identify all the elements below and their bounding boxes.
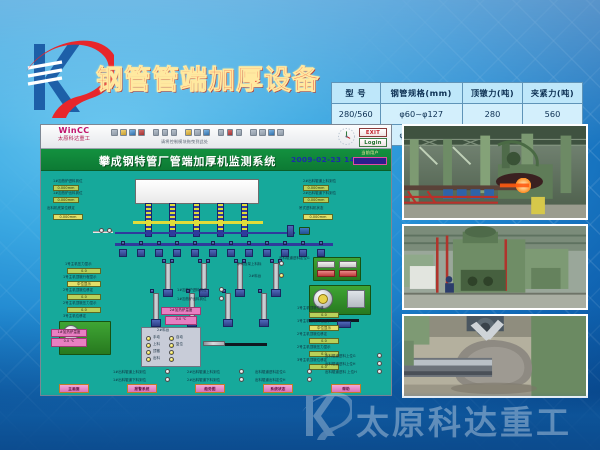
undo-icon[interactable] [185, 129, 192, 136]
conveyor-rail [115, 232, 295, 234]
stand-leg [209, 249, 217, 257]
stand-leg [227, 249, 235, 257]
cylinder-valve [206, 259, 210, 263]
rack2-lamp [279, 273, 284, 278]
lamp-label: 出料辊道出料定位H [255, 379, 286, 382]
toolbar-separator [245, 129, 248, 136]
run-icon[interactable] [259, 129, 266, 136]
table-row: 280/560 φ60~φ127 280 560 [332, 104, 583, 125]
status-lamp [239, 377, 244, 382]
readout-label: 1号主机顶镦行程显示 [297, 320, 331, 323]
status-lamp [219, 296, 224, 301]
panel-lamp[interactable] [169, 336, 174, 341]
wincc-toolbar-icons[interactable] [111, 128, 306, 137]
readout-label: 3号主机位移定 [63, 315, 86, 318]
stand-leg [317, 249, 325, 257]
rack2-label: 2#料台 [249, 275, 261, 278]
roller-icon [211, 241, 215, 245]
furnace2-temp-value: 0.0 ℃ [165, 316, 197, 325]
spec-table-header-row: 型 号 钢管规格(mm) 顶镦力(吨) 夹紧力(吨) [332, 83, 583, 104]
clamp-jaw [317, 261, 335, 268]
stand-leg [155, 249, 163, 257]
panel-lamp[interactable] [146, 336, 151, 341]
current-user-label: 当前用户 [353, 150, 387, 156]
zoom-icon[interactable] [203, 129, 210, 136]
alarm-icon[interactable] [227, 129, 234, 136]
cylinder-valve [170, 259, 174, 263]
lamp-label: 出料辊道进料定位G [255, 371, 286, 374]
readout-value: 中位显示 [309, 325, 339, 331]
lamp-label: 出料辊道进料上位G [325, 355, 356, 358]
roller-icon [157, 241, 161, 245]
furnace-temp-value: 0.0 ℃ [51, 338, 87, 347]
roller-icon [175, 241, 179, 245]
status-value: 0.000mm [303, 197, 329, 203]
readout-label: 2号主机顶镦压力显示 [63, 302, 97, 305]
spec-col-clamp: 夹紧力(吨) [522, 83, 582, 104]
lamp-label: 2#出料辊道上料到位 [187, 371, 220, 374]
lamp-label: 出料辊道进料定位G [279, 257, 310, 260]
readout-value: 中位显示 [67, 281, 101, 287]
open-folder-icon[interactable] [120, 129, 127, 136]
furnace-temp-label: 1#加热炉温度 [51, 329, 87, 337]
slide-header: 钢管管端加厚设备 型 号 钢管规格(mm) 顶镦力(吨) 夹紧力(吨) 280/… [0, 34, 600, 126]
cylinder-valve [270, 259, 274, 263]
status-lamp [377, 353, 382, 358]
cut-icon[interactable] [153, 129, 160, 136]
conveyor-roller-icon [107, 228, 112, 233]
cylinder-valve [198, 259, 202, 263]
spec-col-upset: 顶镦力(吨) [462, 83, 522, 104]
stand-leg [173, 249, 181, 257]
status-lamp [239, 369, 244, 374]
trend-icon[interactable] [236, 129, 243, 136]
stand-leg [137, 249, 145, 257]
lamp-label: 出料辊道进料 上位H [325, 371, 357, 374]
readout-value: 0.0 [309, 312, 339, 318]
hmi-screenshot-panel: WinCC 太原科达重工 请将控制模块拖曳到此处 [40, 124, 392, 396]
readout-label: 1号主机顶镦位移 [297, 307, 324, 310]
panel-lamp[interactable] [146, 357, 151, 362]
cylinder-base [163, 289, 173, 297]
flywheel-hub-icon [318, 294, 328, 304]
status-lamp [377, 361, 382, 366]
valve-block [337, 321, 351, 328]
roller-icon [265, 241, 269, 245]
wincc-logo: WinCC 太原科达重工 [46, 127, 102, 146]
toolbar-separator [180, 129, 183, 136]
photo-factory-machinery-overview [402, 224, 588, 310]
status-lamp [377, 369, 382, 374]
lamp-label: 出料辊道进料上位H [325, 363, 356, 366]
panel-lamp[interactable] [169, 343, 174, 348]
lamp-label: 1#加热炉出料到位 [177, 298, 207, 301]
photo-upset-pipe-end-closeup [402, 314, 588, 398]
readout-label: 1号主机顶镦行程显示 [63, 276, 97, 279]
grid-icon[interactable] [218, 129, 225, 136]
status-value: 0.000mm [53, 197, 79, 203]
page-title: 钢管管端加厚设备 [96, 58, 320, 97]
stand-leg [245, 249, 253, 257]
cylinder-base [223, 319, 233, 327]
roller-icon [121, 241, 125, 245]
stop-icon[interactable] [268, 129, 275, 136]
cylinder-valve [162, 259, 166, 263]
cylinder-base [235, 289, 245, 297]
status-lamp [307, 369, 312, 374]
status-label: 1#加热炉进料到位 [53, 180, 83, 183]
panel-lamp[interactable] [169, 357, 174, 362]
conveyor-stop-block [287, 225, 294, 237]
readout-label: 2号主机顶镦位移定 [63, 289, 93, 292]
furnace-body [135, 179, 259, 204]
furnace2-temp-label: 2#加热炉温度 [161, 307, 201, 315]
readout-label: 2号主机顶镦位移定 [297, 333, 327, 336]
press-head [347, 290, 365, 308]
status-label: 吊式进料机状态 [299, 207, 323, 210]
panel-row-label: 上料 [153, 343, 160, 346]
current-user-value [353, 157, 387, 165]
lamp-label: 2#出料辊道下料到位 [187, 379, 220, 382]
cylinder-valve [150, 289, 154, 293]
control-panel-title: 2#料台 [157, 329, 169, 332]
toolbar-hint: 请将控制模块拖曳到此处 [161, 139, 208, 145]
status-label: 2#出料辊道上料到位 [303, 180, 336, 183]
spec-cell: φ60~φ127 [380, 104, 462, 125]
help-icon[interactable] [277, 129, 284, 136]
toolbar-separator [147, 129, 150, 136]
panel-lamp[interactable] [146, 343, 151, 348]
panel-link-line [225, 343, 267, 346]
readout-label: 1号主机压力显示 [65, 263, 92, 266]
roller-icon [229, 241, 233, 245]
readout-value: 0.0 [67, 294, 101, 300]
mid-rack-lamp [279, 261, 284, 266]
redo-icon[interactable] [194, 129, 201, 136]
status-label: 2#出料辊道下料到位 [303, 192, 336, 195]
save-icon[interactable] [129, 129, 136, 136]
panel-linked-cylinder [203, 341, 225, 346]
spec-col-model: 型 号 [332, 83, 381, 104]
furnace-rail [133, 221, 263, 224]
cylinder-base [259, 319, 269, 327]
status-lamp [307, 377, 312, 382]
panel-lamp[interactable] [146, 350, 151, 355]
exit-button[interactable]: EXIT [359, 128, 387, 137]
spec-col-size: 钢管规格(mm) [380, 83, 462, 104]
toolbar-separator [212, 129, 215, 136]
panel-row-label: 复位 [176, 343, 183, 346]
properties-icon[interactable] [250, 129, 257, 136]
panel-row-label: 出料 [153, 357, 160, 360]
status-value: 0.000mm [303, 214, 333, 220]
readout-value: 0.0 [309, 338, 339, 344]
roller-icon [193, 241, 197, 245]
clamp-jaw-active [339, 270, 357, 277]
lamp-label: 1#加热炉进料到位 [177, 289, 207, 292]
panel-row-label: 自动 [176, 336, 183, 339]
clamp-jaw [339, 261, 357, 268]
drive-motor-icon [299, 227, 310, 235]
analog-clock-icon [337, 127, 356, 146]
cylinder-base [271, 289, 281, 297]
hmi-process-canvas: 1#加热炉进料到位 0.000mm 1#加热炉出料到位 0.000mm 出料机底… [41, 171, 391, 396]
roller-icon [139, 241, 143, 245]
readout-label: 3号主机顶镦位移定 [297, 359, 327, 362]
hmi-system-title: 攀成钢特管厂管端加厚机监测系统 [99, 153, 276, 169]
stand-leg [191, 249, 199, 257]
stand-leg [263, 249, 271, 257]
lamp-label: 1#出料辊道下料到位 [113, 379, 146, 382]
roller-icon [301, 241, 305, 245]
roller-icon [283, 241, 287, 245]
cylinder-base [151, 319, 161, 327]
panel-row-label: 顶镦 [153, 350, 160, 353]
kd-watermark-logo-icon [300, 392, 352, 440]
readout-value: 0.0 [67, 307, 101, 313]
clamp-jaw-active [317, 270, 335, 277]
new-file-icon[interactable] [111, 129, 118, 136]
hmi-title-bar: 攀成钢特管厂管端加厚机监测系统 2009-02-23 14:29:24 当前用户 [41, 149, 391, 171]
photo-factory-line-hot-pipe [402, 124, 588, 220]
mid-rack-label: 中间台架上料标 [237, 263, 261, 266]
status-lamp [165, 369, 170, 374]
roller-icon [247, 241, 251, 245]
watermark-text: 太原科达重工 [356, 396, 572, 444]
status-lamp [165, 377, 170, 382]
conveyor-roller-icon [99, 228, 104, 233]
print-icon[interactable] [138, 129, 145, 136]
status-label: 1#加热炉出料到位 [53, 192, 83, 195]
stand-leg [119, 249, 127, 257]
spec-cell: 280 [462, 104, 522, 125]
status-value: 0.000mm [53, 214, 83, 220]
copy-icon[interactable] [162, 129, 169, 136]
login-button[interactable]: Login [359, 138, 387, 147]
readout-value: 0.0 [67, 268, 101, 274]
cylinder-valve [258, 289, 262, 293]
spec-cell: 560 [522, 104, 582, 125]
status-label: 出料机底架位移定 [47, 207, 75, 210]
status-lamp [219, 287, 224, 292]
spec-cell: 280/560 [332, 104, 381, 125]
panel-row-label: 手动 [153, 336, 160, 339]
current-user-box: 当前用户 [353, 150, 387, 165]
lamp-label: 1#出料辊道上料到位 [113, 371, 146, 374]
wincc-toolbar: WinCC 太原科达重工 请将控制模块拖曳到此处 [41, 125, 391, 149]
paste-icon[interactable] [171, 129, 178, 136]
panel-lamp[interactable] [169, 350, 174, 355]
roller-icon [319, 241, 323, 245]
readout-label: 2号主机顶镦压力显示 [297, 346, 331, 349]
